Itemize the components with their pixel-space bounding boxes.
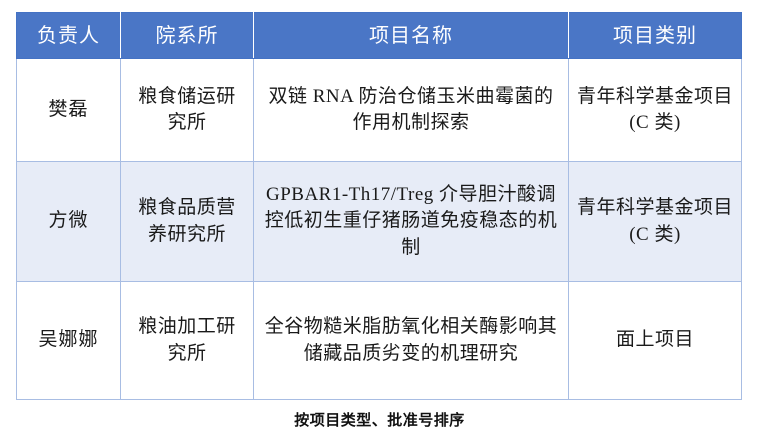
- table-row: 方微 粮食品质营养研究所 GPBAR1-Th17/Treg 介导胆汁酸调控低初生…: [17, 162, 742, 282]
- column-header-owner: 负责人: [17, 13, 121, 59]
- table-row: 吴娜娜 粮油加工研究所 全谷物糙米脂肪氧化相关酶影响其储藏品质劣变的机理研究 面…: [17, 282, 742, 400]
- column-header-category: 项目类别: [569, 13, 742, 59]
- cell-category: 青年科学基金项目 (C 类): [569, 162, 742, 282]
- column-header-title: 项目名称: [254, 13, 569, 59]
- cell-category: 面上项目: [569, 282, 742, 400]
- cell-title: 全谷物糙米脂肪氧化相关酶影响其储藏品质劣变的机理研究: [254, 282, 569, 400]
- cell-owner: 樊磊: [17, 59, 121, 162]
- cell-category: 青年科学基金项目 (C 类): [569, 59, 742, 162]
- table-header-row: 负责人 院系所 项目名称 项目类别: [17, 13, 742, 59]
- table-caption: 按项目类型、批准号排序: [0, 409, 759, 430]
- cell-owner: 吴娜娜: [17, 282, 121, 400]
- column-header-dept: 院系所: [121, 13, 254, 59]
- cell-owner: 方微: [17, 162, 121, 282]
- table-body: 樊磊 粮食储运研究所 双链 RNA 防治仓储玉米曲霉菌的作用机制探索 青年科学基…: [17, 59, 742, 400]
- cell-dept: 粮食品质营养研究所: [121, 162, 254, 282]
- page-root: 负责人 院系所 项目名称 项目类别 樊磊 粮食储运研究所 双链 RNA 防治仓储…: [0, 0, 759, 447]
- cell-dept: 粮食储运研究所: [121, 59, 254, 162]
- table-header: 负责人 院系所 项目名称 项目类别: [17, 13, 742, 59]
- grant-table-container: 负责人 院系所 项目名称 项目类别 樊磊 粮食储运研究所 双链 RNA 防治仓储…: [16, 12, 741, 400]
- cell-title: GPBAR1-Th17/Treg 介导胆汁酸调控低初生重仔猪肠道免疫稳态的机制: [254, 162, 569, 282]
- cell-dept: 粮油加工研究所: [121, 282, 254, 400]
- table-row: 樊磊 粮食储运研究所 双链 RNA 防治仓储玉米曲霉菌的作用机制探索 青年科学基…: [17, 59, 742, 162]
- cell-title: 双链 RNA 防治仓储玉米曲霉菌的作用机制探索: [254, 59, 569, 162]
- grant-table: 负责人 院系所 项目名称 项目类别 樊磊 粮食储运研究所 双链 RNA 防治仓储…: [16, 12, 742, 400]
